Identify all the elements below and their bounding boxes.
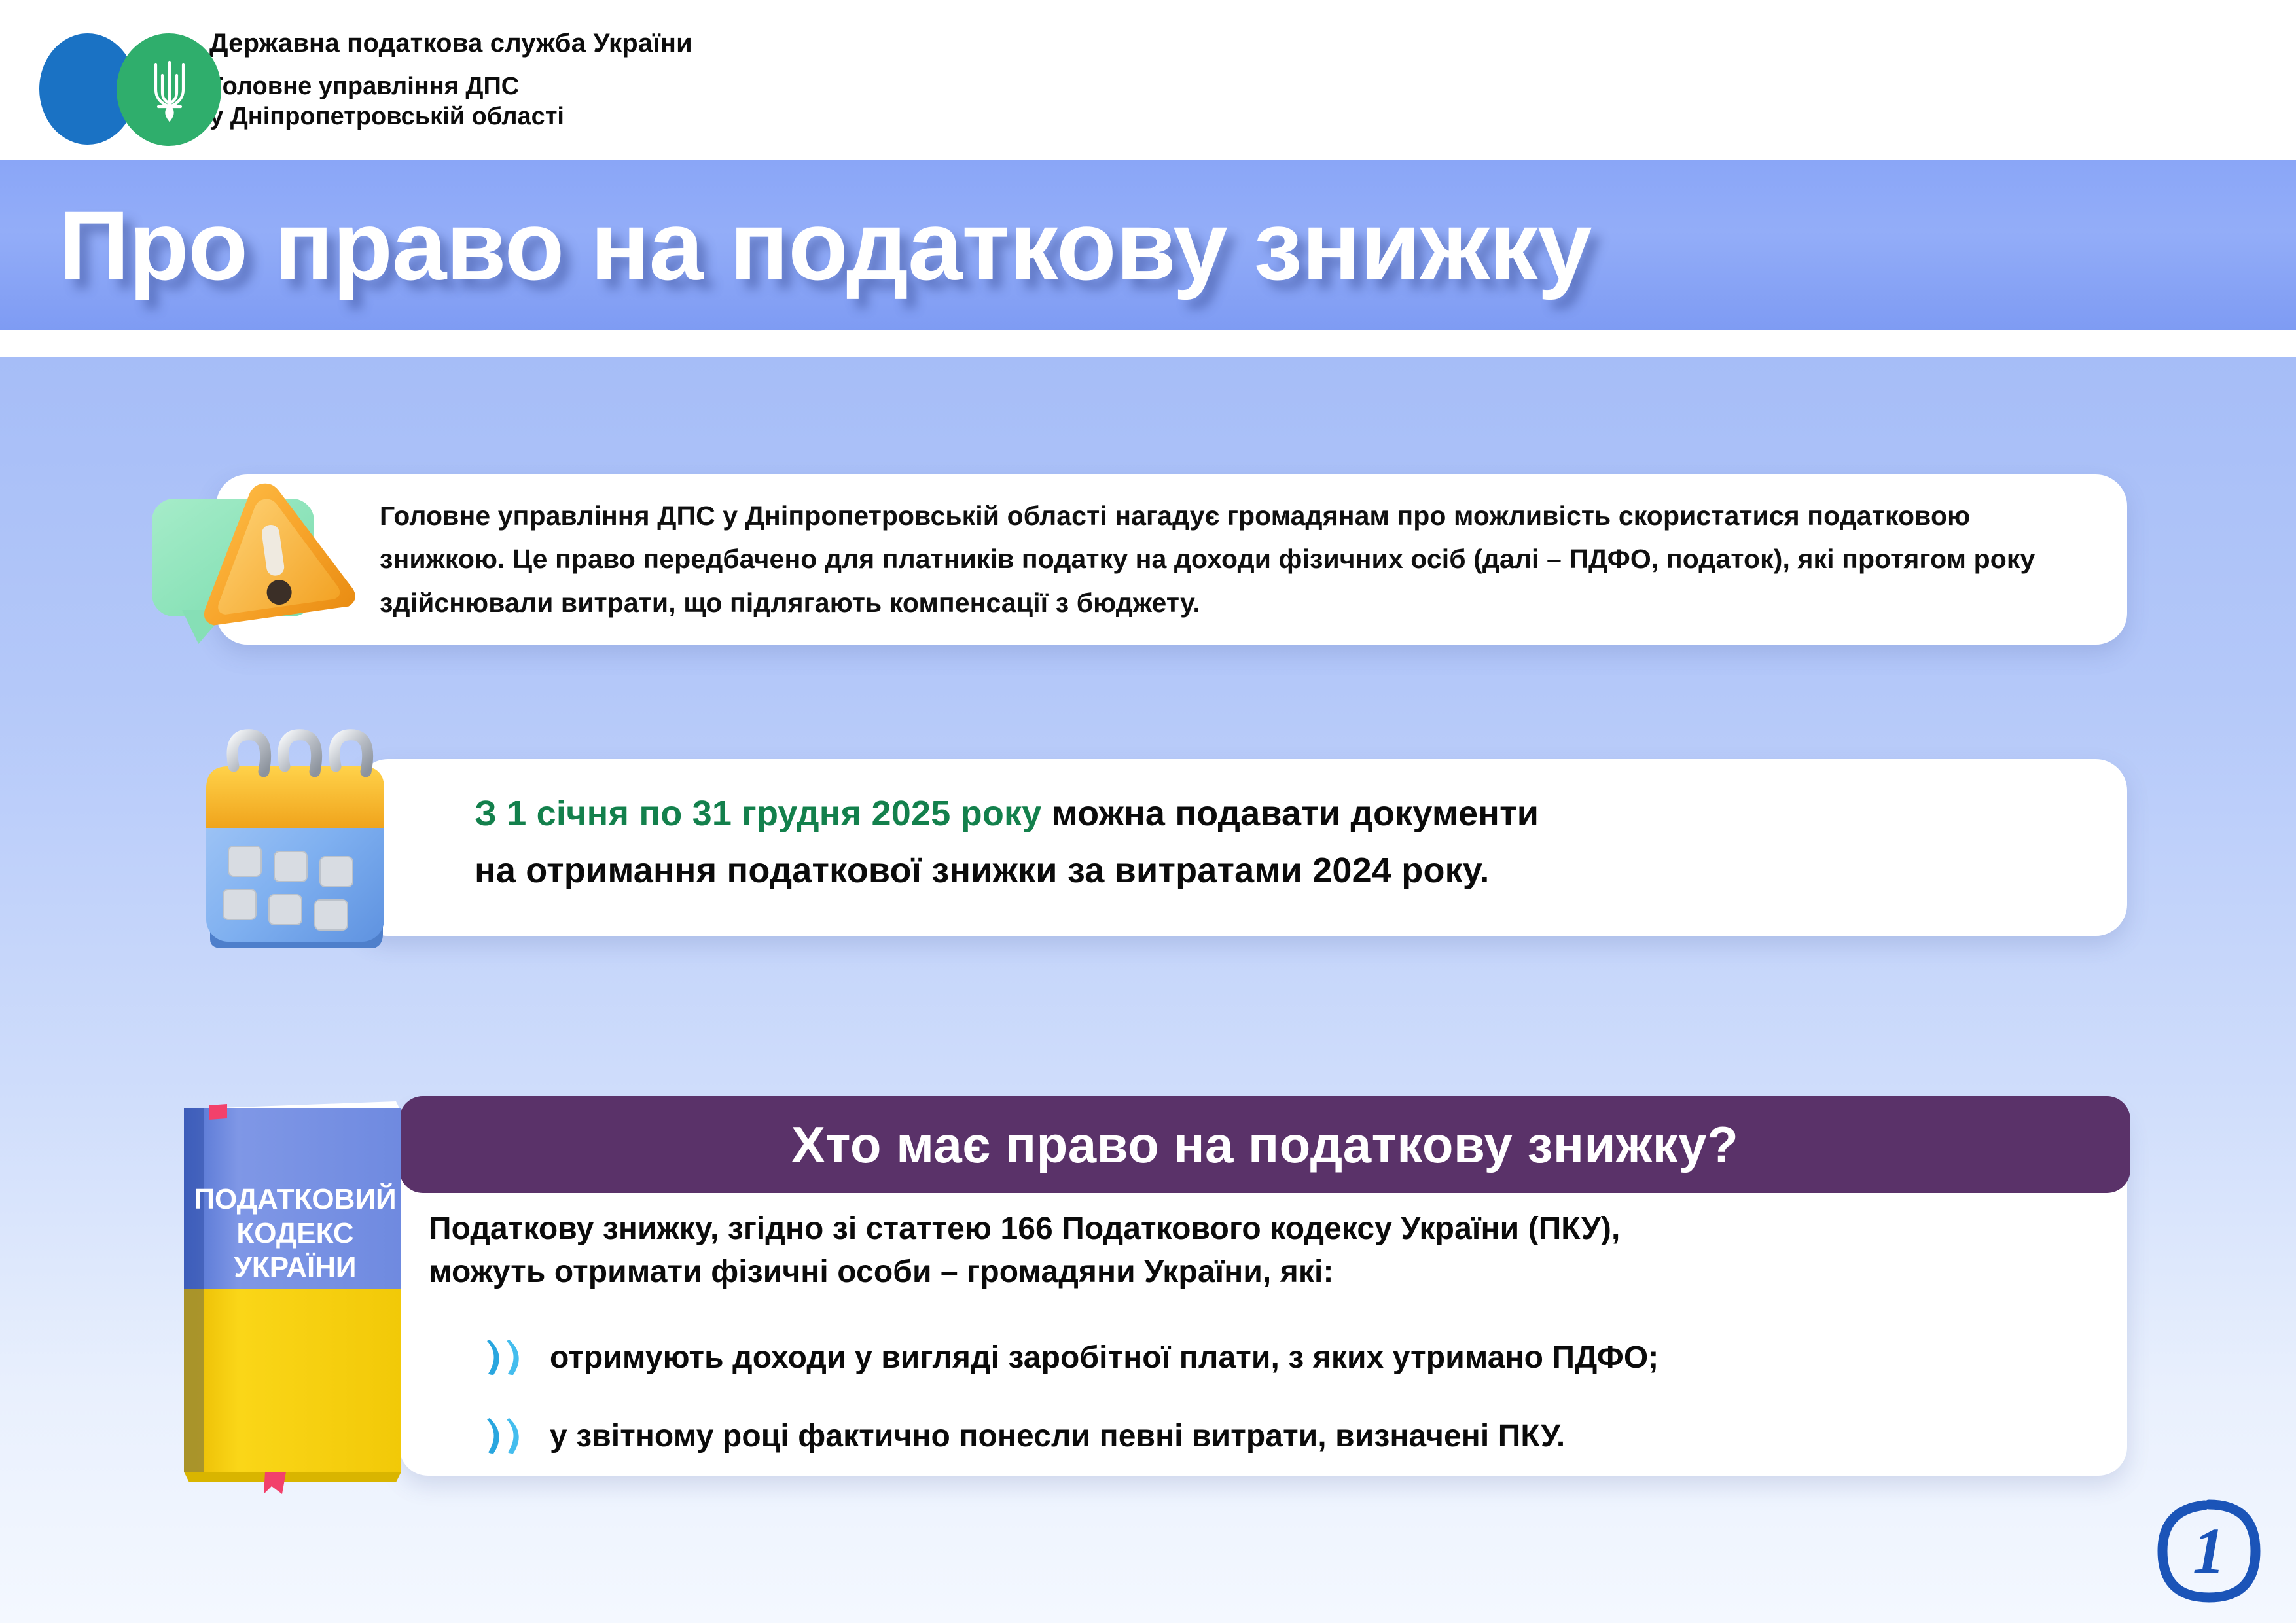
eligibility-header: Хто має право на податкову знижку? — [399, 1096, 2130, 1193]
dps-logo — [27, 15, 198, 146]
eligibility-line-1: Податкову знижку, згідно зі статтею 166 … — [429, 1207, 2111, 1251]
page-body: Головне управління ДПС у Дніпропетровськ… — [0, 357, 2296, 1623]
page-number-text: 1 — [2193, 1514, 2225, 1587]
deadline-card: З 1 січня по 31 грудня 2025 року можна п… — [357, 759, 2127, 936]
deadline-text: З 1 січня по 31 грудня 2025 року можна п… — [475, 785, 2098, 900]
eligibility-body: Податкову знижку, згідно зі статтею 166 … — [429, 1207, 2111, 1294]
eligibility-line-2: можуть отримати фізичні особи – громадян… — [429, 1251, 2111, 1294]
double-chevron-icon — [484, 1337, 531, 1378]
intro-text: Головне управління ДПС у Дніпропетровськ… — [380, 494, 2094, 624]
tax-code-book-icon: ПОДАТКОВИЙ КОДЕКС УКРАЇНИ — [167, 1090, 429, 1495]
intro-card: Головне управління ДПС у Дніпропетровськ… — [216, 474, 2127, 645]
list-item: у звітному році фактично понесли певні в… — [484, 1416, 1565, 1456]
book-title-line-1: ПОДАТКОВИЙ — [194, 1182, 396, 1215]
list-item: отримують доходи у вигляді заробітної пл… — [484, 1337, 1659, 1378]
header-text-block: Державна податкова служба України Головн… — [209, 29, 692, 132]
list-item-text: отримують доходи у вигляді заробітної пл… — [550, 1340, 1659, 1376]
list-item-text: у звітному році фактично понесли певні в… — [550, 1418, 1565, 1454]
page-title: Про право на податкову знижку — [59, 189, 1591, 302]
deadline-highlight: З 1 січня по 31 грудня 2025 року — [475, 794, 1041, 833]
deadline-line2: на отримання податкової знижки за витрат… — [475, 851, 1490, 890]
dept-line-2: у Дніпропетровській області — [209, 101, 692, 132]
org-title: Державна податкова служба України — [209, 29, 692, 58]
book-title-line-3: УКРАЇНИ — [234, 1251, 356, 1283]
page-header: Державна податкова служба України Головн… — [0, 0, 2296, 160]
warning-triangle-icon — [151, 471, 360, 681]
page-number-badge: 1 — [2153, 1495, 2265, 1607]
book-title-line-2: КОДЕКС — [236, 1217, 353, 1249]
dept-line-1: Головне управління ДПС — [209, 71, 692, 101]
deadline-rest: можна подавати документи — [1041, 794, 1539, 833]
triangle-shape — [181, 467, 363, 637]
banner-white-stripe — [0, 330, 2296, 357]
double-chevron-icon — [484, 1416, 531, 1456]
ukraine-trident-icon — [149, 56, 190, 124]
title-banner: Про право на податкову знижку — [0, 160, 2296, 330]
calendar-icon — [187, 723, 422, 955]
eligibility-header-text: Хто має право на податкову знижку? — [791, 1115, 1739, 1175]
